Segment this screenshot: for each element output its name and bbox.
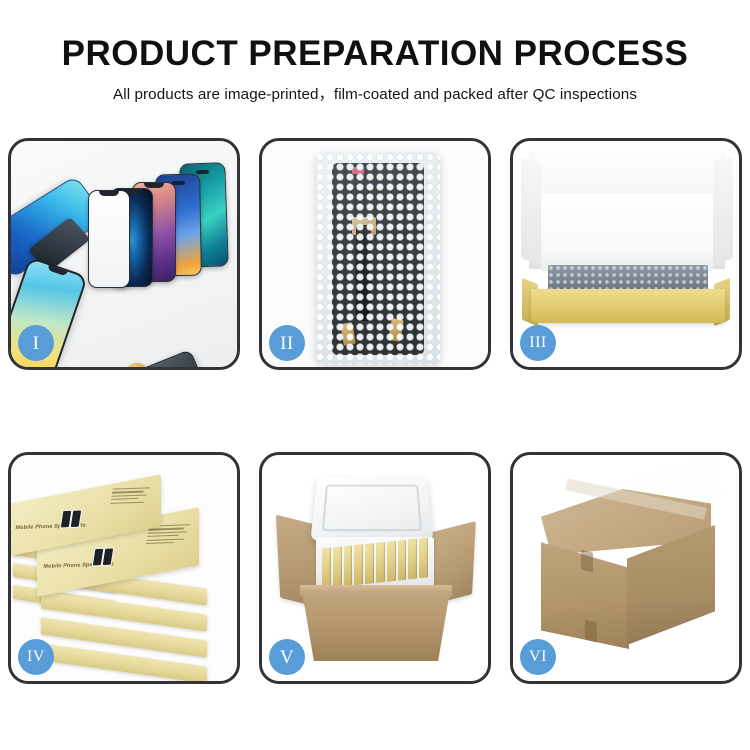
- packed-box: [354, 544, 363, 585]
- step-number-badge-3: III: [520, 325, 556, 361]
- packed-box: [408, 539, 417, 580]
- box-art-screens-back: [60, 509, 83, 528]
- box-art-screen: [103, 548, 113, 565]
- packed-box: [333, 547, 342, 588]
- box-art-screen: [71, 510, 81, 527]
- notch-icon: [99, 191, 119, 196]
- yellow-tray-front: [531, 289, 725, 323]
- phone-white-glass: [88, 190, 130, 288]
- process-step-1: I: [8, 138, 240, 370]
- spec-line: [112, 487, 150, 490]
- packed-box: [387, 541, 396, 582]
- spec-line: [146, 542, 174, 544]
- step-number-badge-5: V: [269, 639, 305, 675]
- process-step-4: Mobile Phone Spare Parts: [8, 452, 240, 684]
- packed-box: [376, 542, 385, 583]
- process-step-2: II: [259, 138, 491, 370]
- header: PRODUCT PREPARATION PROCESS All products…: [0, 36, 750, 104]
- box-art-screen: [93, 549, 103, 566]
- packed-box: [322, 548, 331, 589]
- packed-box: [419, 537, 428, 578]
- packed-box: [344, 545, 353, 586]
- bubble-texture: [316, 153, 440, 365]
- styrofoam-lid: [310, 477, 433, 540]
- box-tab-lower: [585, 620, 597, 643]
- step-number-badge-2: II: [269, 325, 305, 361]
- process-step-5: V: [259, 452, 491, 684]
- process-step-3: III: [510, 138, 742, 370]
- spec-line: [111, 498, 139, 500]
- bubble-wrap-bag: [316, 153, 440, 365]
- camera-punch-icon: [196, 170, 209, 174]
- page-title: PRODUCT PREPARATION PROCESS: [0, 36, 750, 73]
- process-step-6: VI: [510, 452, 742, 684]
- spec-line: [112, 491, 144, 493]
- step-number-badge-1: I: [18, 325, 54, 361]
- spec-line: [147, 538, 185, 541]
- page-subtitle: All products are image-printed，film-coat…: [0, 82, 750, 104]
- packed-box: [365, 543, 374, 584]
- spec-line: [111, 494, 147, 496]
- notch-icon: [144, 183, 164, 188]
- carton-front-panel: [302, 591, 450, 661]
- spec-line: [148, 531, 188, 534]
- step-number-badge-6: VI: [520, 639, 556, 675]
- box-spec-lines-back: [110, 487, 154, 506]
- product-preparation-infographic: PRODUCT PREPARATION PROCESS All products…: [0, 0, 750, 750]
- box-art-screens-front: [92, 547, 115, 566]
- packed-box: [398, 540, 407, 581]
- white-foam-sheet: [541, 193, 713, 271]
- spec-line: [148, 528, 184, 530]
- step-number-badge-4: IV: [18, 639, 54, 675]
- spec-line: [147, 535, 179, 537]
- process-step-grid: I II: [8, 138, 742, 740]
- box-tab-upper: [581, 550, 593, 573]
- spec-line: [110, 501, 144, 503]
- box-art-screen: [61, 511, 71, 528]
